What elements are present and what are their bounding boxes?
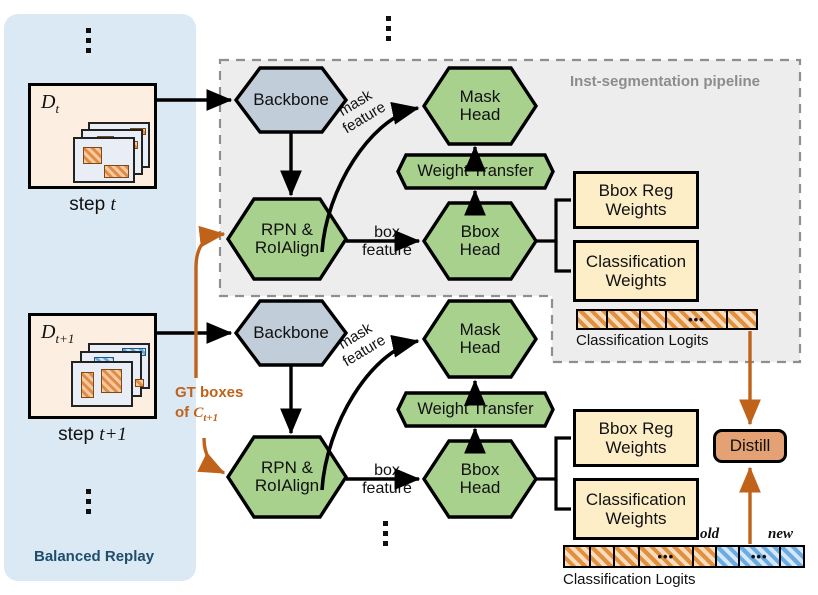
classification-weights-bottom[interactable]: ClassificationWeights [573, 478, 699, 540]
dataset-box-t-plus-1: Dt+1 [28, 313, 157, 419]
weight-transfer-block-bottom[interactable]: Weight Transfer [398, 393, 553, 426]
backbone-label-top: Backbone [236, 68, 346, 132]
bbox-head-label-bottom: BboxHead [460, 461, 501, 498]
pipeline-top-ellipsis [386, 16, 391, 41]
distill-label: Distill [730, 436, 771, 456]
replay-top-ellipsis [86, 28, 91, 53]
logit-cell [578, 311, 608, 328]
logits-new-label: new [768, 526, 793, 543]
logit-cell [781, 547, 803, 566]
logit-cell [608, 311, 640, 328]
weight-transfer-label-bottom: Weight Transfer [417, 400, 533, 419]
backbone-label-bottom: Backbone [236, 301, 346, 365]
bbox-head-label-top: BboxHead [460, 223, 501, 260]
rpn-roialign-block-bottom[interactable]: RPN &RoIAlign [228, 437, 346, 517]
dataset-t-plus-1-caption: step t+1 [20, 424, 165, 446]
mask-head-label-bottom: MaskHead [460, 321, 501, 358]
gt-boxes-label: GT boxes of Ct+1 [175, 383, 243, 425]
box-feature-label-bottom: boxfeature [350, 462, 424, 497]
classification-logits-caption-top: Classification Logits [576, 332, 709, 349]
balanced-replay-title: Balanced Replay [34, 548, 154, 565]
logit-cell: ••• [740, 547, 781, 566]
logit-cell [565, 547, 591, 566]
classification-weights-top[interactable]: ClassificationWeights [573, 240, 699, 302]
classification-logits-bar-top[interactable]: ••• [576, 309, 758, 330]
logit-cell [694, 547, 717, 566]
dataset-box-t: Dt [28, 83, 157, 189]
rpn-roialign-label-bottom: RPN &RoIAlign [255, 459, 319, 496]
weight-transfer-block-top[interactable]: Weight Transfer [398, 155, 553, 188]
classification-logits-caption-bottom: Classification Logits [563, 571, 696, 588]
thumbnail-front [71, 361, 133, 407]
logits-old-label: old [700, 526, 719, 543]
diagram-canvas: Dt step t Dt+1 [0, 0, 818, 595]
logit-cell [717, 547, 740, 566]
replay-bottom-ellipsis [86, 489, 91, 514]
bbox-reg-weights-top[interactable]: Bbox RegWeights [573, 171, 699, 229]
mask-head-label-top: MaskHead [460, 88, 501, 125]
weight-transfer-label-top: Weight Transfer [417, 162, 533, 181]
bbox-reg-weights-bottom[interactable]: Bbox RegWeights [573, 409, 699, 467]
dataset-t-plus-1-symbol: Dt+1 [41, 321, 74, 347]
mask-head-block-top[interactable]: MaskHead [424, 68, 536, 144]
logit-cell: ••• [640, 547, 694, 566]
bbox-head-block-top[interactable]: BboxHead [424, 203, 536, 279]
mask-head-block-bottom[interactable]: MaskHead [424, 301, 536, 377]
rpn-roialign-label-top: RPN &RoIAlign [255, 221, 319, 258]
logit-cell [615, 547, 639, 566]
box-feature-label-top: boxfeature [350, 224, 424, 259]
dataset-t-symbol: Dt [41, 91, 59, 117]
distill-block[interactable]: Distill [713, 429, 787, 463]
pipeline-caption: Inst-segmentation pipeline [570, 73, 760, 90]
logit-cell [728, 311, 756, 328]
bbox-head-block-bottom[interactable]: BboxHead [424, 441, 536, 517]
logit-cell [641, 311, 668, 328]
backbone-block-top[interactable]: Backbone [236, 68, 346, 132]
classification-logits-bar-bottom[interactable]: •••••• [563, 545, 805, 568]
rpn-roialign-block-top[interactable]: RPN &RoIAlign [228, 199, 346, 279]
logit-cell [591, 547, 615, 566]
logit-cell: ••• [667, 311, 728, 328]
pipeline-bottom-ellipsis [383, 521, 388, 546]
thumbnail-front [73, 137, 135, 183]
dataset-t-caption: step t [28, 194, 157, 216]
backbone-block-bottom[interactable]: Backbone [236, 301, 346, 365]
